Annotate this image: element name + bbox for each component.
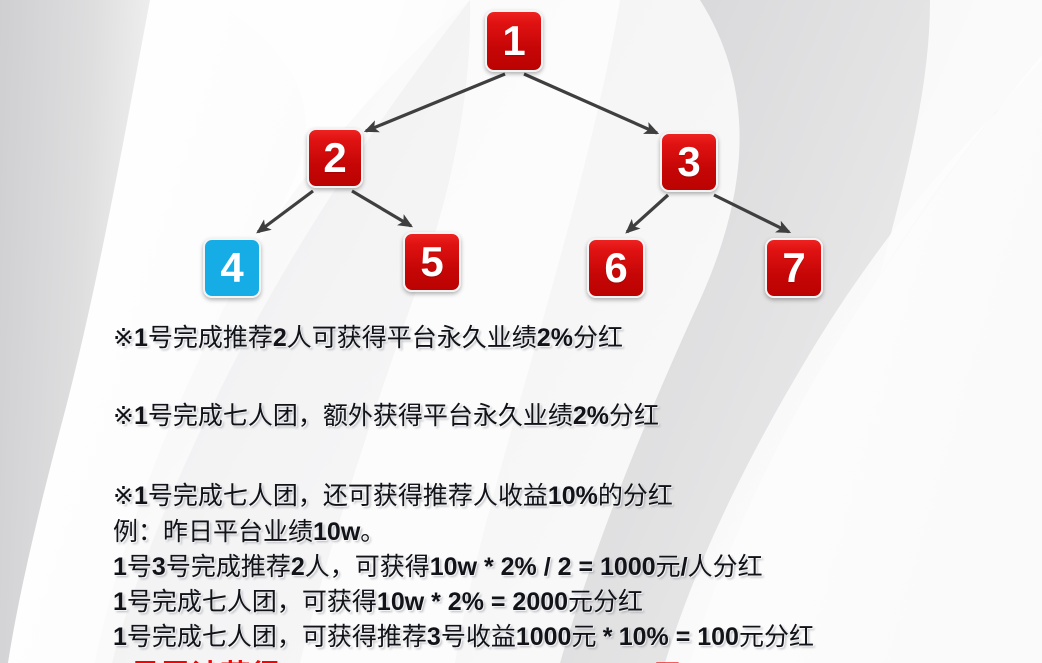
edge-2-to-5 xyxy=(352,191,411,226)
note-line-1: ※1号完成推荐2人可获得平台永久业绩2%分红 xyxy=(113,326,1013,362)
tree-node-4[interactable]: 4 xyxy=(203,238,261,298)
tree-node-3[interactable]: 3 xyxy=(660,132,718,192)
edge-2-to-4 xyxy=(258,191,313,232)
edge-1-to-3 xyxy=(524,74,657,133)
note-line-7: 1号完成七人团，可获得推荐3号收益1000元 * 10% = 100元分红 xyxy=(113,625,1013,660)
edge-1-to-2 xyxy=(366,74,505,131)
note-line-5: 1号3号完成推荐2人，可获得10w * 2% / 2 = 1000元/人分红 xyxy=(113,555,1013,590)
tree-node-6[interactable]: 6 xyxy=(587,238,645,298)
tree-node-4-label: 4 xyxy=(220,247,243,289)
tree-node-7-label: 7 xyxy=(782,247,805,289)
note-line-6: 1号完成七人团，可获得10w * 2% = 2000元分红 xyxy=(113,590,1013,625)
tree-node-3-label: 3 xyxy=(677,141,700,183)
tree-node-2-label: 2 xyxy=(323,137,346,179)
notes-block: ※1号完成推荐2人可获得平台永久业绩2%分红 ※1号完成七人团，额外获得平台永久… xyxy=(113,326,1013,663)
note-line-2: ※1号完成七人团，额外获得平台永久业绩2%分红 xyxy=(113,404,1013,440)
note-line-4: 例：昨日平台业绩10w。 xyxy=(113,520,1013,555)
note-line-3: ※1号完成七人团，还可获得推荐人收益10%的分红 xyxy=(113,484,1013,520)
edge-3-to-7 xyxy=(714,195,789,232)
spacer-2 xyxy=(113,440,1013,484)
spacer-1 xyxy=(113,362,1013,404)
tree-node-5-label: 5 xyxy=(420,241,443,283)
edge-3-to-6 xyxy=(627,195,668,232)
tree-node-5[interactable]: 5 xyxy=(403,232,461,292)
tree-node-1[interactable]: 1 xyxy=(485,10,543,72)
tree-node-2[interactable]: 2 xyxy=(307,128,363,188)
tree-node-6-label: 6 xyxy=(604,247,627,289)
tree-node-1-label: 1 xyxy=(502,20,525,62)
tree-node-7[interactable]: 7 xyxy=(765,238,823,298)
slide-canvas: 1 2 3 4 5 6 7 ※1号完成推荐2人可获得平台永久业绩2%分红 ※1号… xyxy=(0,0,1042,663)
